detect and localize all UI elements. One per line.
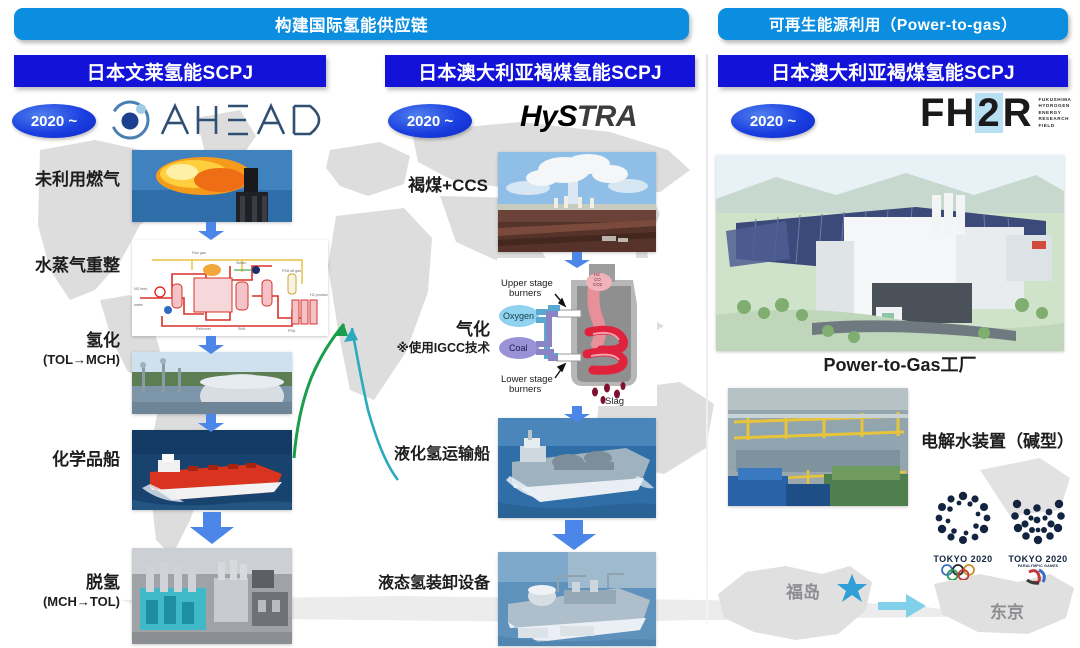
banner-supply-chain: 构建国际氢能供应链: [14, 8, 689, 40]
label-lh2-terminal: 液态氢装卸设备: [358, 575, 490, 594]
svg-text:water: water: [134, 303, 144, 307]
label-lh2-carrier: 液化氢运输船: [364, 446, 490, 465]
svg-text:CO2: CO2: [593, 282, 603, 287]
fukushima-to-tokyo-arrow: [878, 594, 926, 618]
olympic-rings-icon: [938, 564, 988, 580]
paralympic-emblem: [1005, 490, 1071, 548]
brown-coal-mine-photo: [498, 152, 656, 252]
gasifier-text-lower-2: burners: [509, 384, 541, 395]
svg-text:Reformer: Reformer: [196, 327, 212, 331]
hystra-wordmark-a: HyS: [520, 100, 577, 134]
slide-root: 构建国际氢能供应链 可再生能源利用（Power-to-gas） 日本文莱氢能SC…: [0, 0, 1080, 648]
column-title-brunei: 日本文莱氢能SCPJ: [14, 55, 326, 87]
gasifier-text-oxygen: Oxygen: [503, 311, 534, 321]
flow-arrow-down-6: [564, 406, 590, 422]
fh2r-logo: F H 2 R FUKUSHIMA HYDROGEN ENERGY RESEAR…: [920, 93, 1071, 133]
column-title-fukushima: 日本澳大利亚褐煤氢能SCPJ: [718, 55, 1068, 87]
ahead-wordmark: [158, 98, 354, 142]
fh2r-letter-2: 2: [975, 93, 1002, 133]
label-steam-reforming: 水蒸气重整: [8, 256, 120, 276]
flow-arrow-down-5: [564, 252, 590, 268]
dehydrogenation-plant-photo: [132, 548, 292, 644]
label-power-to-gas-plant: Power-to-Gas工厂: [790, 355, 1010, 376]
map-label-fukushima: 福岛: [786, 578, 820, 603]
ahead-logo: [108, 98, 354, 142]
svg-text:PSA off-gas: PSA off-gas: [282, 269, 301, 273]
hydrogenation-plant-photo: [132, 352, 292, 414]
label-dehydrogenation: 脱氢 (MCH→TOL): [4, 573, 120, 609]
fh2r-letter-f: F: [920, 93, 945, 133]
lh2-carrier-ship-photo: [498, 418, 656, 518]
map-label-tokyo: 东京: [990, 598, 1024, 623]
ahead-mark-icon: [108, 98, 152, 142]
label-hydrogenation: 氢化 (TOL→MCH): [4, 331, 120, 367]
svg-text:Flue gas: Flue gas: [192, 251, 206, 255]
svg-text:H2 product: H2 product: [310, 293, 328, 297]
year-badge-brunei: 2020 ~: [12, 104, 96, 138]
gasifier-diagram: Upper stage burners Lower stage burners …: [497, 258, 657, 406]
fh2r-letter-h: H: [945, 93, 975, 133]
gasifier-text-slag: Slag: [605, 396, 624, 406]
flow-arrow-down-1: [198, 222, 224, 240]
banner-power-to-gas: 可再生能源利用（Power-to-gas）: [718, 8, 1068, 40]
olympic-emblem-caption: TOKYO 2020: [930, 554, 996, 564]
gasifier-text-upper-2: burners: [509, 288, 541, 299]
svg-text:Shift: Shift: [238, 327, 245, 331]
svg-text:Steam: Steam: [236, 261, 246, 265]
olympic-emblem: [930, 490, 996, 548]
tokyo-olympic-emblem-block: TOKYO 2020: [930, 490, 996, 585]
flow-arrow-down-7: [552, 520, 596, 550]
agitos-icon: [1023, 568, 1053, 586]
label-brown-coal-ccs: 褐煤+CCS: [378, 176, 488, 196]
fh2r-subtitle: FUKUSHIMA HYDROGEN ENERGY RESEARCH FIELD: [1038, 97, 1071, 130]
svg-text:NG feed: NG feed: [134, 287, 147, 291]
alkaline-electrolyzer-photo: [728, 388, 908, 506]
hystra-wordmark-b: TRA: [577, 100, 637, 134]
flow-arrow-down-4: [190, 512, 234, 544]
label-alkaline-electrolyzer: 电解水装置（碱型）: [916, 432, 1074, 452]
chemical-tanker-photo: [132, 430, 292, 510]
steam-reforming-diagram: NG feedwater Flue gasSteam PSA off-gasRe…: [132, 240, 328, 336]
hystra-logo: HyS TRA: [520, 100, 637, 134]
flow-arrow-down-3: [198, 414, 224, 432]
svg-text:PSA: PSA: [288, 329, 296, 333]
flow-arrow-down-2: [198, 336, 224, 354]
label-chemical-tanker: 化学品船: [8, 450, 120, 470]
year-badge-australia: 2020 ~: [388, 104, 472, 138]
year-badge-fukushima: 2020 ~: [731, 104, 815, 138]
paralympic-emblem-caption: TOKYO 2020: [1004, 554, 1072, 564]
label-gasification: 气化 ※使用IGCC技术: [368, 320, 490, 356]
lh2-loading-terminal-photo: [498, 552, 656, 646]
fh2r-facility-photo: [716, 155, 1064, 351]
column-title-australia: 日本澳大利亚褐煤氢能SCPJ: [385, 55, 695, 87]
column-divider: [706, 54, 708, 624]
gas-flare-photo: [132, 150, 292, 222]
fh2r-letter-r: R: [1003, 93, 1033, 133]
gasifier-text-coal: Coal: [509, 343, 528, 353]
tokyo-paralympic-emblem-block: TOKYO 2020 PARALYMPIC GAMES: [1004, 490, 1072, 591]
fh2r-wordmark: F H 2 R: [920, 93, 1032, 133]
label-unused-gas: 未利用燃气: [8, 170, 120, 190]
